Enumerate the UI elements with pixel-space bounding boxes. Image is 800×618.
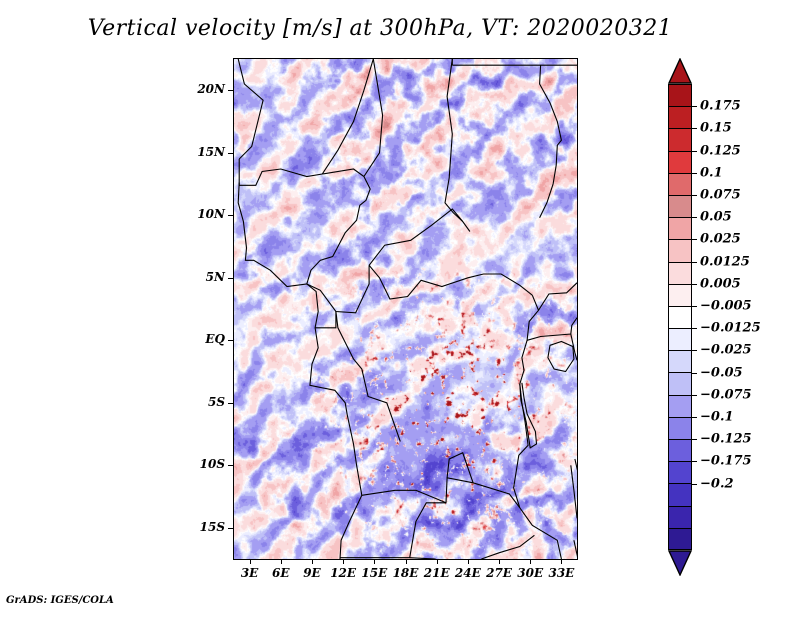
colorbar-tick	[692, 128, 697, 129]
colorbar-label: −0.005	[700, 299, 752, 314]
colorbar-tick	[692, 417, 697, 418]
colorbar-top-arrow	[668, 58, 692, 84]
x-tick-label: 15E	[361, 566, 387, 580]
colorbar-tick	[692, 106, 697, 107]
x-tick-label: 24E	[455, 566, 481, 580]
page-title: Vertical velocity [m/s] at 300hPa, VT: 2…	[0, 16, 760, 41]
colorbar-tick	[692, 484, 697, 485]
colorbar: 0.1750.150.1250.10.0750.050.0250.01250.0…	[668, 58, 788, 558]
x-tick-mark	[499, 559, 500, 564]
border-path	[539, 283, 578, 311]
border-path	[445, 59, 470, 232]
colorbar-tick	[692, 239, 697, 240]
x-tick-label: 9E	[303, 566, 321, 580]
x-tick-label: 6E	[272, 566, 290, 580]
colorbar-tick	[692, 151, 697, 152]
colorbar-swatch	[668, 84, 692, 106]
colorbar-swatch	[668, 128, 692, 150]
x-tick-mark	[374, 559, 375, 564]
x-tick-mark	[250, 559, 251, 564]
y-tick-label: 15S	[200, 520, 225, 534]
border-path	[571, 459, 577, 518]
border-path	[322, 59, 373, 174]
x-tick-mark	[468, 559, 469, 564]
y-tick-mark	[228, 215, 233, 216]
y-tick-mark	[228, 90, 233, 91]
y-tick-mark	[228, 340, 233, 341]
y-tick-label: 5S	[208, 395, 225, 409]
colorbar-swatch	[668, 506, 692, 528]
colorbar-label: 0.175	[700, 99, 741, 114]
map-plot-area	[233, 58, 578, 560]
colorbar-swatch	[668, 528, 692, 550]
x-tick-label: 33E	[548, 566, 574, 580]
colorbar-label: −0.125	[700, 432, 752, 447]
colorbar-tick	[692, 262, 697, 263]
colorbar-tick	[692, 461, 697, 462]
colorbar-tick	[692, 350, 697, 351]
colorbar-label: −0.2	[700, 476, 734, 491]
border-path	[410, 478, 520, 558]
colorbar-tick	[692, 395, 697, 396]
border-path	[514, 295, 539, 508]
colorbar-label: −0.1	[700, 410, 734, 425]
border-path	[307, 177, 370, 285]
y-tick-label: EQ	[205, 332, 225, 346]
colorbar-label: 0.025	[700, 232, 741, 247]
y-tick-label: 15N	[197, 145, 225, 159]
colorbar-tick	[692, 217, 697, 218]
border-path	[340, 558, 436, 559]
grads-credit: GrADS: IGES/COLA	[6, 595, 114, 606]
x-tick-label: 18E	[393, 566, 419, 580]
border-path	[362, 490, 446, 503]
y-tick-mark	[228, 465, 233, 466]
border-path	[520, 508, 562, 559]
border-path	[574, 540, 577, 559]
colorbar-tick	[692, 306, 697, 307]
border-path	[364, 59, 383, 177]
y-tick-label: 10S	[200, 457, 225, 471]
colorbar-tick	[692, 195, 697, 196]
border-path	[481, 535, 534, 559]
colorbar-swatch	[668, 328, 692, 350]
x-tick-mark	[437, 559, 438, 564]
lake-victoria-outline	[548, 342, 574, 372]
x-tick-mark	[530, 559, 531, 564]
colorbar-label: −0.025	[700, 343, 752, 358]
x-tick-label: 21E	[424, 566, 450, 580]
colorbar-label: 0.05	[700, 210, 732, 225]
country-borders	[234, 59, 577, 559]
colorbar-tick	[692, 173, 697, 174]
y-tick-mark	[228, 153, 233, 154]
colorbar-tick	[692, 284, 697, 285]
y-tick-label: 5N	[206, 270, 225, 284]
y-tick-label: 10N	[197, 207, 225, 221]
colorbar-label: 0.15	[700, 121, 732, 136]
colorbar-swatch	[668, 306, 692, 328]
x-tick-label: 3E	[241, 566, 259, 580]
colorbar-swatch	[668, 483, 692, 505]
colorbar-tick	[692, 373, 697, 374]
colorbar-swatch	[668, 461, 692, 483]
colorbar-swatch	[668, 151, 692, 173]
y-tick-mark	[228, 403, 233, 404]
colorbar-swatch	[668, 395, 692, 417]
colorbar-swatch	[668, 106, 692, 128]
x-tick-mark	[312, 559, 313, 564]
y-tick-mark	[228, 278, 233, 279]
x-tick-mark	[281, 559, 282, 564]
x-tick-mark	[561, 559, 562, 564]
colorbar-swatch	[668, 195, 692, 217]
colorbar-label: −0.0125	[700, 321, 761, 336]
colorbar-swatch	[668, 372, 692, 394]
colorbar-swatch	[668, 284, 692, 306]
border-path	[238, 59, 263, 159]
colorbar-bottom-arrow	[668, 550, 692, 576]
colorbar-swatches	[668, 84, 692, 550]
colorbar-swatch	[668, 262, 692, 284]
x-tick-label: 12E	[330, 566, 356, 580]
colorbar-swatch	[668, 350, 692, 372]
colorbar-label: 0.125	[700, 143, 741, 158]
border-path	[238, 183, 362, 559]
border-path	[369, 265, 532, 299]
colorbar-label: −0.05	[700, 365, 743, 380]
border-path	[336, 312, 400, 442]
border-path	[307, 265, 369, 313]
y-tick-label: 20N	[197, 82, 225, 96]
colorbar-tick	[692, 328, 697, 329]
border-path	[540, 65, 562, 218]
border-path	[527, 318, 577, 341]
border-path	[239, 169, 364, 185]
colorbar-swatch	[668, 417, 692, 439]
colorbar-label: −0.075	[700, 387, 752, 402]
x-tick-mark	[406, 559, 407, 564]
x-tick-label: 30E	[517, 566, 543, 580]
colorbar-swatch	[668, 439, 692, 461]
y-tick-mark	[228, 528, 233, 529]
x-tick-mark	[343, 559, 344, 564]
colorbar-swatch	[668, 239, 692, 261]
colorbar-label: 0.0125	[700, 254, 750, 269]
colorbar-label: 0.1	[700, 165, 723, 180]
border-path	[369, 209, 463, 265]
colorbar-label: −0.175	[700, 454, 752, 469]
colorbar-label: 0.075	[700, 188, 741, 203]
x-tick-label: 27E	[486, 566, 512, 580]
border-path	[520, 383, 537, 448]
colorbar-swatch	[668, 173, 692, 195]
colorbar-label: 0.005	[700, 276, 741, 291]
colorbar-tick	[692, 439, 697, 440]
colorbar-swatch	[668, 217, 692, 239]
